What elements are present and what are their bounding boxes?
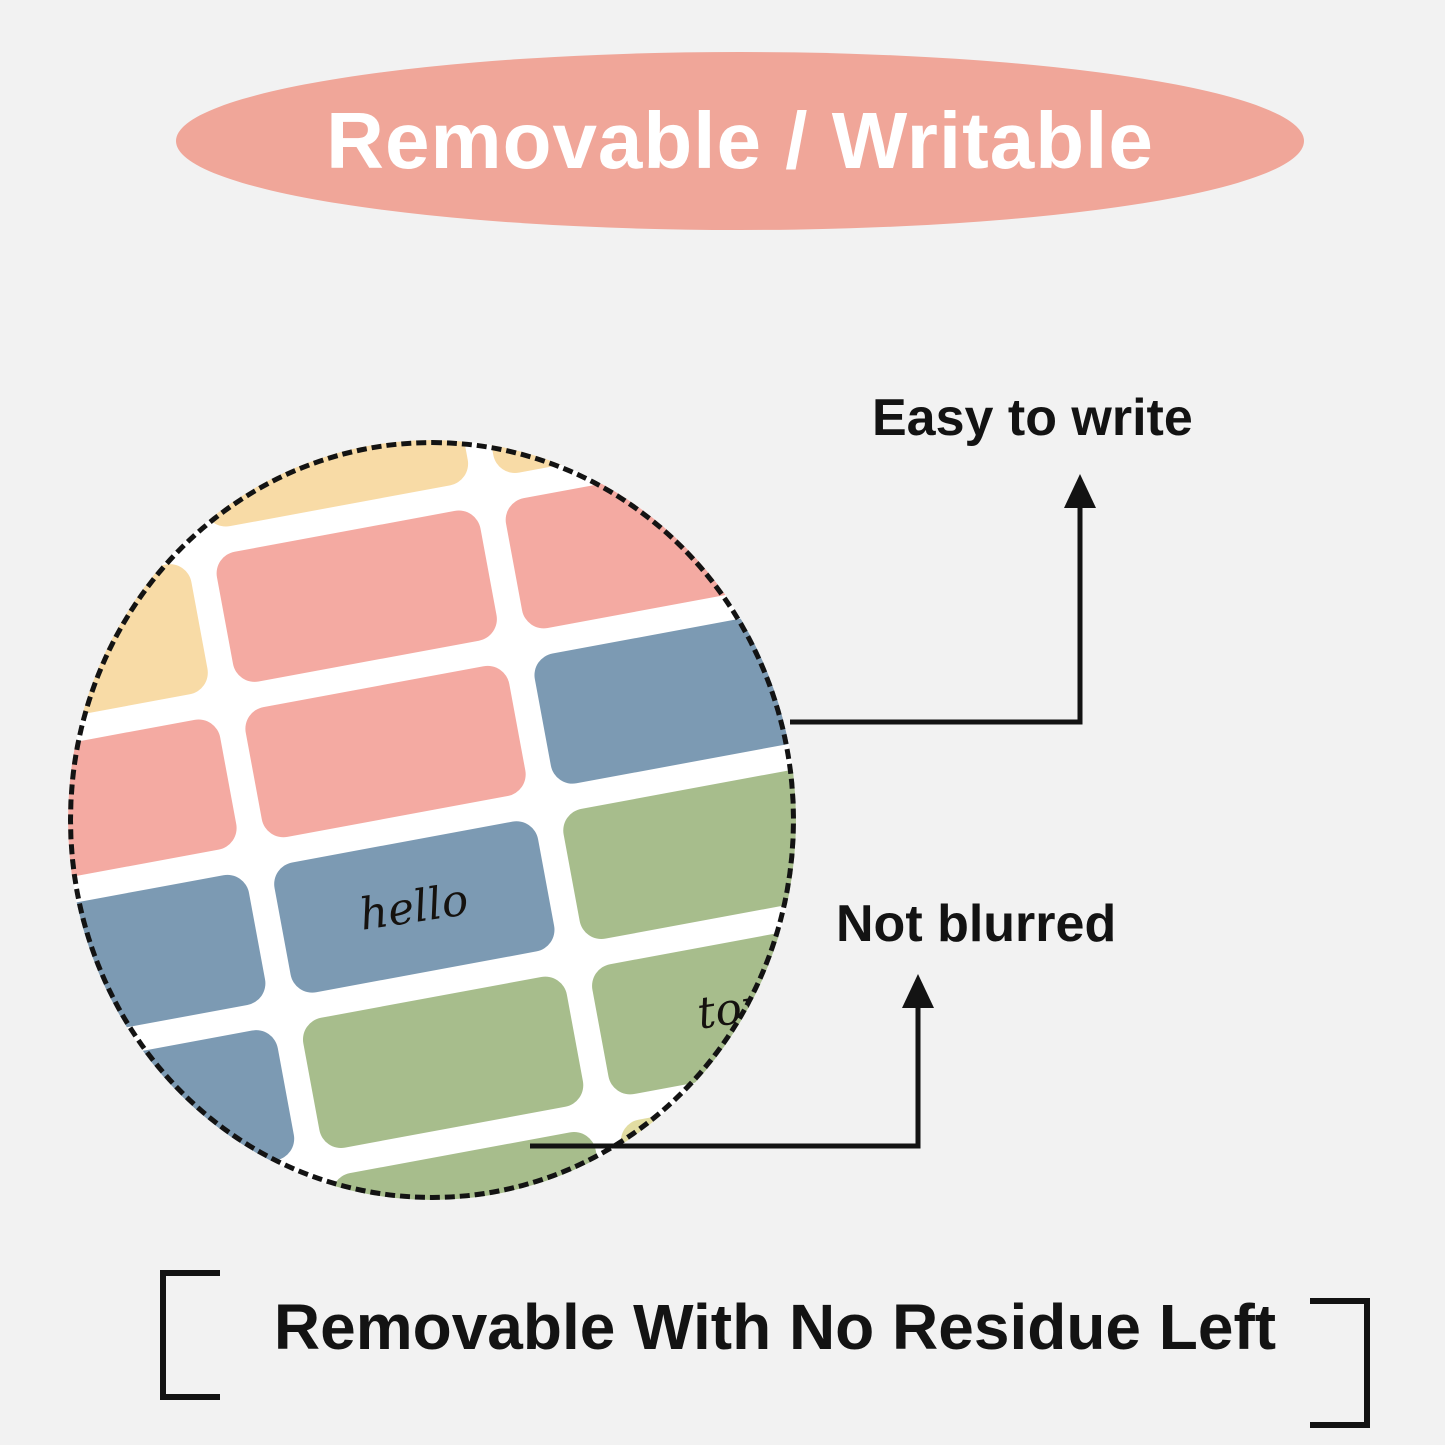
sticker-label xyxy=(68,1027,298,1200)
sticker-handwritten-word: toy xyxy=(694,978,770,1039)
sticker-closeup-circle: hellotoyAnnatravel xyxy=(68,440,796,1200)
sticker-label xyxy=(68,716,240,895)
sticker-label xyxy=(531,609,796,788)
callout-label-easy-to-write: Easy to write xyxy=(872,392,1193,444)
sticker-label xyxy=(299,973,587,1152)
leader-line-easy-to-write xyxy=(780,460,1100,740)
caption-bracket-right xyxy=(1310,1298,1370,1428)
sticker-label xyxy=(502,453,790,632)
sticker-sheet: hellotoyAnnatravel xyxy=(68,440,796,1200)
sticker-label xyxy=(213,507,501,686)
promo-banner: Removable / Writable xyxy=(176,52,1304,230)
bottom-caption: Removable With No Residue Left xyxy=(200,1295,1350,1359)
sticker-label xyxy=(242,662,530,841)
sticker-grid: hellotoyAnnatravel xyxy=(68,440,796,1200)
sticker-label xyxy=(617,1075,796,1200)
sticker-label xyxy=(68,560,211,739)
callout-label-not-blurred: Not blurred xyxy=(836,898,1116,950)
sticker-closeup-clip: hellotoyAnnatravel xyxy=(68,440,796,1200)
sticker-label: hello xyxy=(271,818,559,997)
sticker-label: toy xyxy=(588,919,796,1098)
sticker-label xyxy=(560,764,796,943)
promo-banner-text: Removable / Writable xyxy=(326,101,1154,181)
sticker-label xyxy=(68,871,269,1050)
sticker-label xyxy=(68,440,183,584)
sticker-handwritten-word: hello xyxy=(357,874,472,941)
